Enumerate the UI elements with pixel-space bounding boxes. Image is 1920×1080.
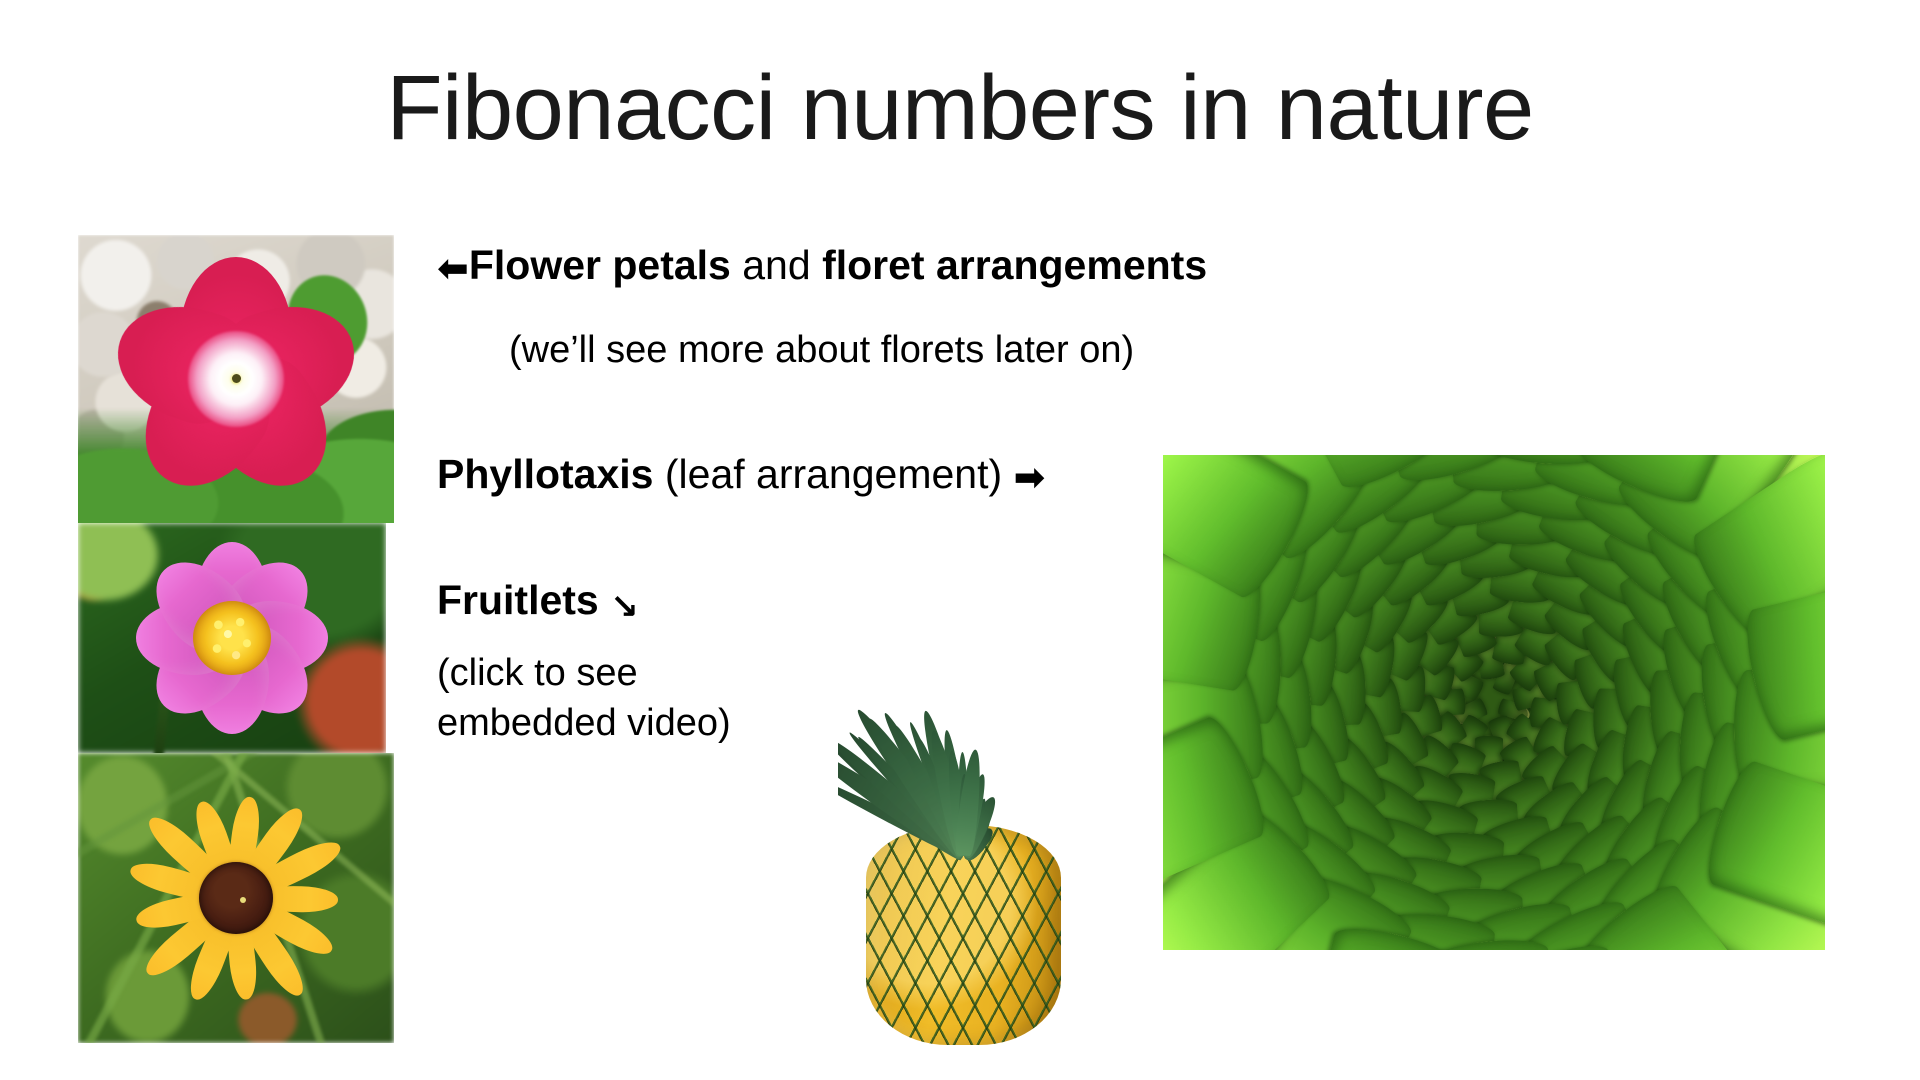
bullet-petals-plain: and — [731, 242, 822, 288]
note-click-embedded-video[interactable]: (click to see embedded video) — [437, 648, 731, 748]
slide-canvas: Fibonacci numbers in nature — [0, 0, 1920, 1080]
pineapple-body — [866, 825, 1061, 1045]
pineapple-crown — [838, 545, 1088, 855]
aloe-scene — [1163, 455, 1825, 950]
bullet-phyllotaxis: Phyllotaxis (leaf arrangement) ➡ — [437, 452, 1045, 497]
right-arrow-icon: ➡ — [1014, 457, 1046, 499]
down-right-arrow-icon: ↘ — [610, 589, 639, 626]
bullet-phyllotaxis-plain: (leaf arrangement) — [653, 451, 1013, 497]
note-florets-later: (we’ll see more about florets later on) — [509, 330, 1134, 372]
image-pineapple[interactable] — [838, 545, 1088, 1045]
bullet-fruitlets: Fruitlets ↘ — [437, 578, 639, 623]
image-flower-periwinkle — [78, 235, 394, 523]
bullet-petals-bold-2: floret arrangements — [822, 242, 1207, 288]
left-arrow-icon: ⬅ — [437, 248, 469, 290]
dahlia-scene — [78, 523, 386, 753]
periwinkle-scene — [78, 235, 394, 523]
bullet-fruitlets-bold: Fruitlets — [437, 577, 599, 623]
stigma — [232, 374, 241, 383]
bullet-flower-petals: ⬅Flower petals and floret arrangements — [437, 243, 1207, 288]
page-title: Fibonacci numbers in nature — [0, 62, 1920, 154]
image-spiral-aloe — [1163, 455, 1825, 950]
image-flower-rudbeckia — [78, 753, 394, 1043]
pineapple-scene — [838, 545, 1088, 1045]
aloe-leaf — [1754, 616, 1825, 743]
dark-centre-disc — [199, 862, 273, 934]
bullet-petals-bold-1: Flower petals — [469, 242, 731, 288]
floret-disc — [193, 601, 271, 675]
image-flower-dahlia — [78, 523, 386, 753]
bullet-phyllotaxis-bold: Phyllotaxis — [437, 451, 653, 497]
rudbeckia-scene — [78, 753, 394, 1043]
